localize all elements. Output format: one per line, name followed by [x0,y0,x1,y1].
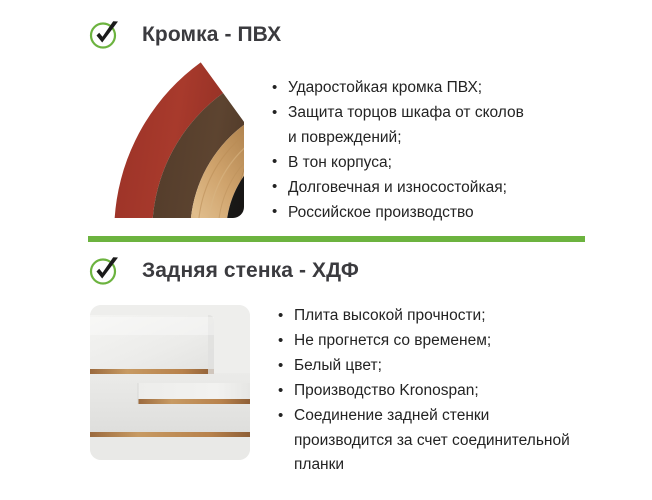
list-item: Плита высокой прочности; [278,304,598,329]
list-item-text: Ударостойкая кромка ПВХ; [288,79,482,96]
list-item-text-continued: производится за счет соединительной план… [294,429,598,478]
list-item-text: Плита высокой прочности; [294,307,486,324]
list-item: Долговечная и износостойкая; [272,176,592,201]
pvc-edge-banding-photo [88,57,244,218]
list-item: Производство Kronospan; [278,379,598,404]
page-title: Задняя стенка - ХДФ [142,259,359,283]
page-root: Кромка - ПВХ [0,0,652,500]
list-item-text: Производство Kronospan; [294,382,479,399]
list-item-text: В тон корпуса; [288,154,392,171]
list-item-text: Не прогнется со временем; [294,332,491,349]
green-check-circle-icon [88,253,121,286]
list-item-text-continued: и повреждений; [288,126,592,151]
feature-list-hdf-back-panel: Плита высокой прочности; Не прогнется со… [278,304,598,478]
list-item: Ударостойкая кромка ПВХ; [272,76,592,101]
list-item-text: Российское производство [288,204,474,221]
feature-list-pvc-edge: Ударостойкая кромка ПВХ; Защита торцов ш… [272,76,592,226]
hdf-panels-photo [90,305,250,460]
list-item: Защита торцов шкафа от сколов и поврежде… [272,101,592,150]
list-item: Белый цвет; [278,354,598,379]
section-pvc-edge: Кромка - ПВХ [0,0,652,228]
pvc-rolls-illustration [88,57,244,218]
section-heading-pvc-edge: Кромка - ПВХ [88,18,281,51]
list-item-text: Долговечная и износостойкая; [288,179,507,196]
list-item: Российское производство [272,201,592,226]
green-divider [88,236,585,242]
section-hdf-back-panel: Задняя стенка - ХДФ [0,248,652,500]
page-title: Кромка - ПВХ [142,23,281,47]
list-item: Соединение задней стенки производится за… [278,404,598,478]
section-heading-hdf-back-panel: Задняя стенка - ХДФ [88,254,359,287]
list-item: Не прогнется со временем; [278,329,598,354]
list-item-text: Защита торцов шкафа от сколов [288,104,524,121]
list-item-text: Соединение задней стенки [294,407,489,424]
green-check-circle-icon [88,17,121,50]
hdf-panels-illustration [90,305,250,460]
list-item: В тон корпуса; [272,151,592,176]
list-item-text: Белый цвет; [294,357,382,374]
